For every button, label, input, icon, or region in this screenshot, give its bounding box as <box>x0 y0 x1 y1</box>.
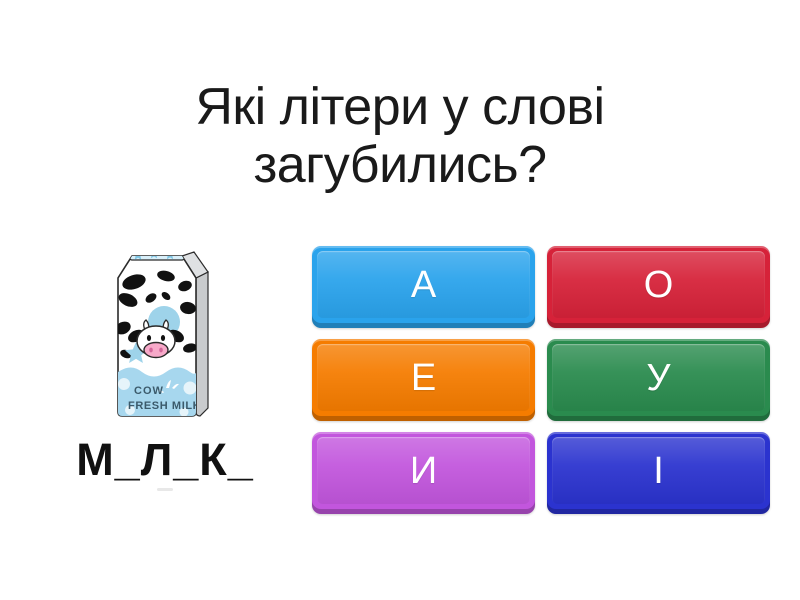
carton-cap-band <box>130 248 184 260</box>
answer-label-a: А <box>411 266 436 304</box>
answer-label-o: О <box>644 266 674 304</box>
answer-option-y[interactable]: И <box>312 432 535 514</box>
milk-carton-illustration: COW FRESH MILK <box>104 238 226 420</box>
carton-brand-line2: FRESH MILK <box>128 400 201 412</box>
answer-option-o[interactable]: О <box>547 246 770 328</box>
milk-carton-svg: COW FRESH MILK <box>104 238 226 420</box>
page-title: Які літери у слові загубились? <box>60 78 740 194</box>
carton-side-panel <box>196 272 208 416</box>
image-artifact-mark <box>157 488 173 491</box>
word-puzzle-text: М_Л_К_ <box>30 434 300 486</box>
answer-option-e[interactable]: Е <box>312 339 535 421</box>
answer-option-u[interactable]: У <box>547 339 770 421</box>
question-media-panel: COW FRESH MILK М_Л_К_ <box>30 238 300 528</box>
answer-option-a[interactable]: А <box>312 246 535 328</box>
answer-label-y: И <box>410 452 437 490</box>
answer-label-i: І <box>653 452 664 490</box>
answer-label-u: У <box>646 359 670 397</box>
carton-brand-line1: COW <box>134 385 164 397</box>
answer-label-e: Е <box>411 359 436 397</box>
answer-option-i[interactable]: І <box>547 432 770 514</box>
answer-options-grid: А О Е У И І <box>312 246 770 514</box>
